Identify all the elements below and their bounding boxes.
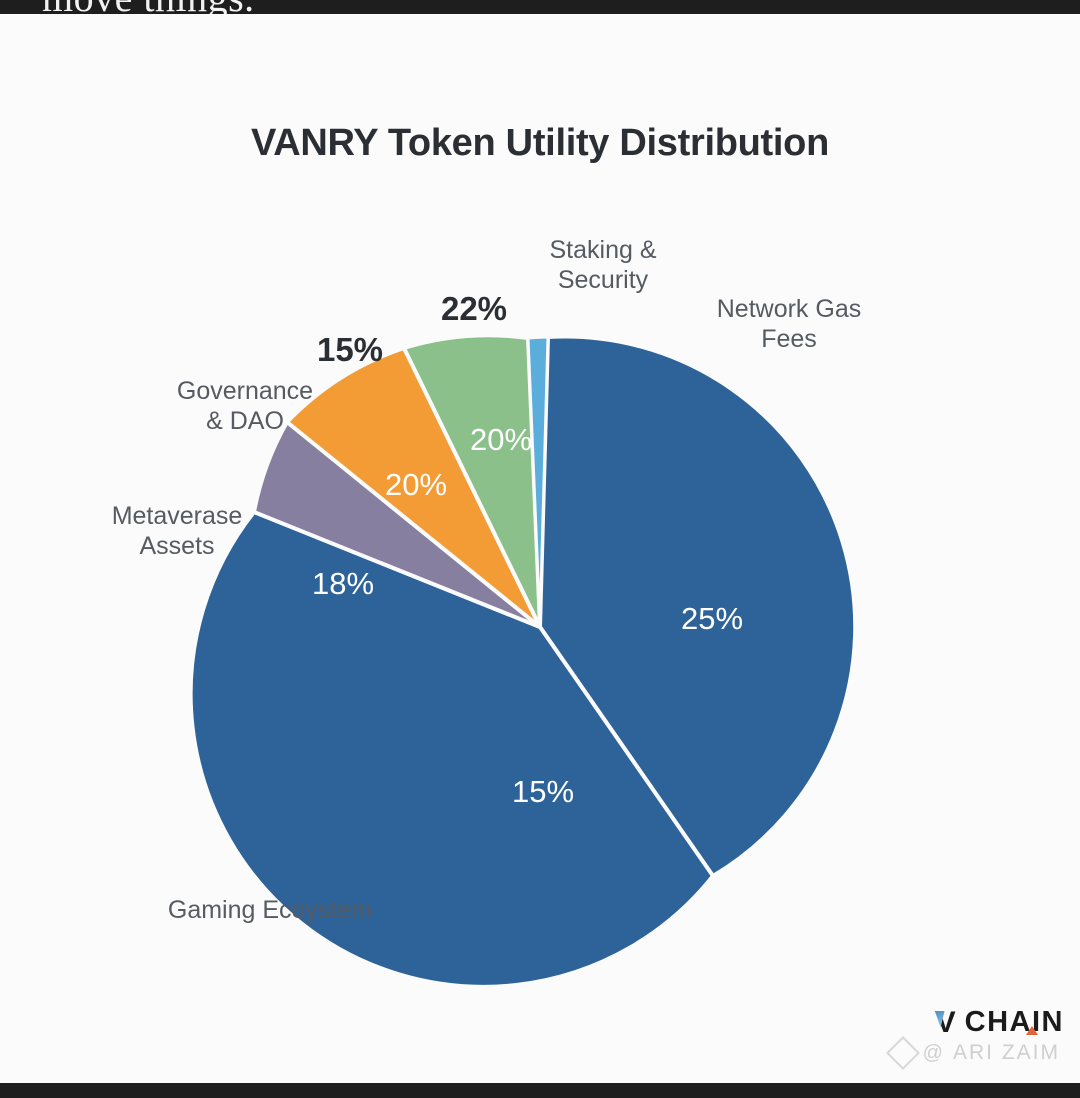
brand-accent-triangle [1026, 1026, 1038, 1035]
label-staking-security-line1: Staking & [549, 236, 656, 264]
slice-value-green: 20% [470, 422, 532, 457]
outside-value-orange: 15% [317, 331, 383, 368]
brand-logo: V CHAIN [936, 1006, 1064, 1039]
pie-chart-svg: 25% 15% 18% 20% 20% 22% 15% Staking & Se… [0, 14, 1080, 1083]
bottom-black-bar [0, 1083, 1080, 1098]
watermark-name: ARI ZAIM [953, 1041, 1060, 1065]
label-staking-security-line2: Security [558, 266, 649, 294]
label-governance-dao-line2: & DAO [206, 407, 284, 435]
at-icon: @ [923, 1042, 945, 1065]
chart-card: VANRY Token Utility Distribution 25% [0, 14, 1080, 1083]
brand-v-mark: V [936, 1008, 956, 1038]
slice-value-metaverase-assets: 18% [312, 566, 374, 601]
brand-chain-text: CHAIN [965, 1006, 1064, 1039]
label-metaverase-assets-line2: Assets [139, 532, 214, 560]
slice-value-governance-dao: 20% [385, 467, 447, 502]
screenshot-root: move things. VANRY Token Utility Distrib… [0, 0, 1080, 1098]
slice-value-gaming-ecoystem: 15% [512, 774, 574, 809]
label-network-gas-fees-line2: Fees [761, 325, 817, 353]
label-governance-dao-line1: Governance [177, 377, 313, 405]
slice-value-network-gas-fees: 25% [681, 601, 743, 636]
diamond-icon [886, 1036, 920, 1070]
watermark: @ ARI ZAIM [891, 1041, 1060, 1065]
label-metaverase-assets-line1: Metaverase [112, 502, 243, 530]
label-gaming-ecoystem: Gaming Ecoystem [168, 896, 372, 924]
top-cutoff-text-strip: move things. [0, 0, 1080, 14]
outside-value-green: 22% [441, 290, 507, 327]
brand-chain-label: CHAIN [965, 1006, 1064, 1038]
label-network-gas-fees-line1: Network Gas [717, 295, 861, 323]
pie-chart: 25% 15% 18% 20% 20% 22% 15% Staking & Se… [0, 14, 1080, 1083]
top-cutoff-text: move things. [42, 0, 255, 14]
